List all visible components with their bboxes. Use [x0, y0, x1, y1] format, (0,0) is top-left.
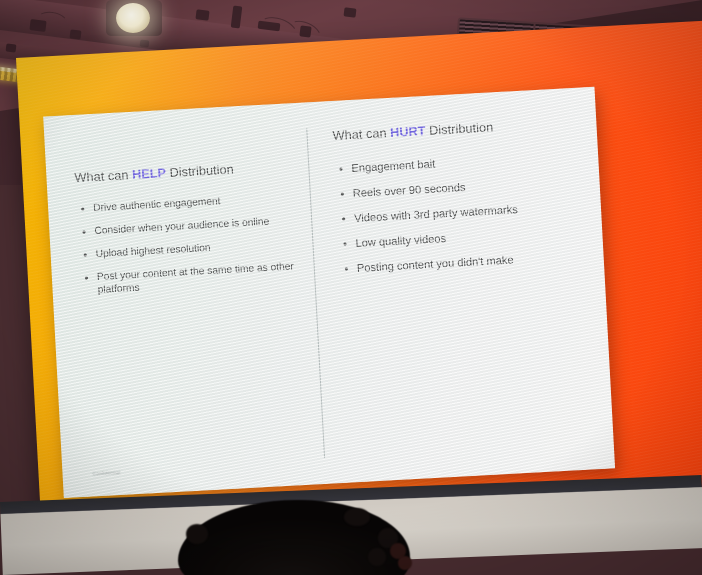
conference-room-photo: What can HELP Distribution Drive authent… [0, 0, 702, 575]
column-divider [306, 128, 325, 458]
help-column-title: What can HELP Distribution [74, 162, 234, 185]
column-help: What can HELP Distribution Drive authent… [71, 103, 293, 115]
slide-footer-mark: Confidential [92, 470, 120, 477]
title-accent-hurt: HURT [390, 124, 426, 140]
help-bullet-list: Drive authentic engagement Consider when… [80, 191, 303, 308]
list-item: Reels over 90 seconds [339, 174, 585, 201]
list-item: Upload highest resolution [82, 237, 300, 262]
list-item: Videos with 3rd party watermarks [341, 199, 587, 226]
hair-curl [368, 548, 386, 566]
projection-screen: What can HELP Distribution Drive authent… [16, 21, 702, 538]
title-prefix: What can [74, 168, 132, 185]
title-accent-help: HELP [132, 166, 167, 182]
title-prefix: What can [332, 126, 390, 143]
presentation-slide: What can HELP Distribution Drive authent… [43, 87, 615, 498]
hair-curl [186, 524, 208, 544]
title-suffix: Distribution [166, 162, 234, 180]
hurt-column-title: What can HURT Distribution [332, 120, 493, 143]
list-item: Post your content at the same time as ot… [84, 260, 303, 298]
list-item: Engagement bait [338, 149, 584, 176]
list-item: Drive authentic engagement [80, 191, 298, 216]
hair-curl [398, 556, 412, 570]
column-hurt: What can HURT Distribution Engagement ba… [331, 88, 581, 102]
title-suffix: Distribution [425, 120, 493, 138]
list-item: Consider when your audience is online [81, 214, 299, 239]
hair-curl [344, 508, 370, 526]
list-item: Low quality videos [342, 224, 588, 251]
list-item: Posting content you didn't make [344, 249, 590, 276]
hurt-bullet-list: Engagement bait Reels over 90 seconds Vi… [338, 149, 590, 287]
